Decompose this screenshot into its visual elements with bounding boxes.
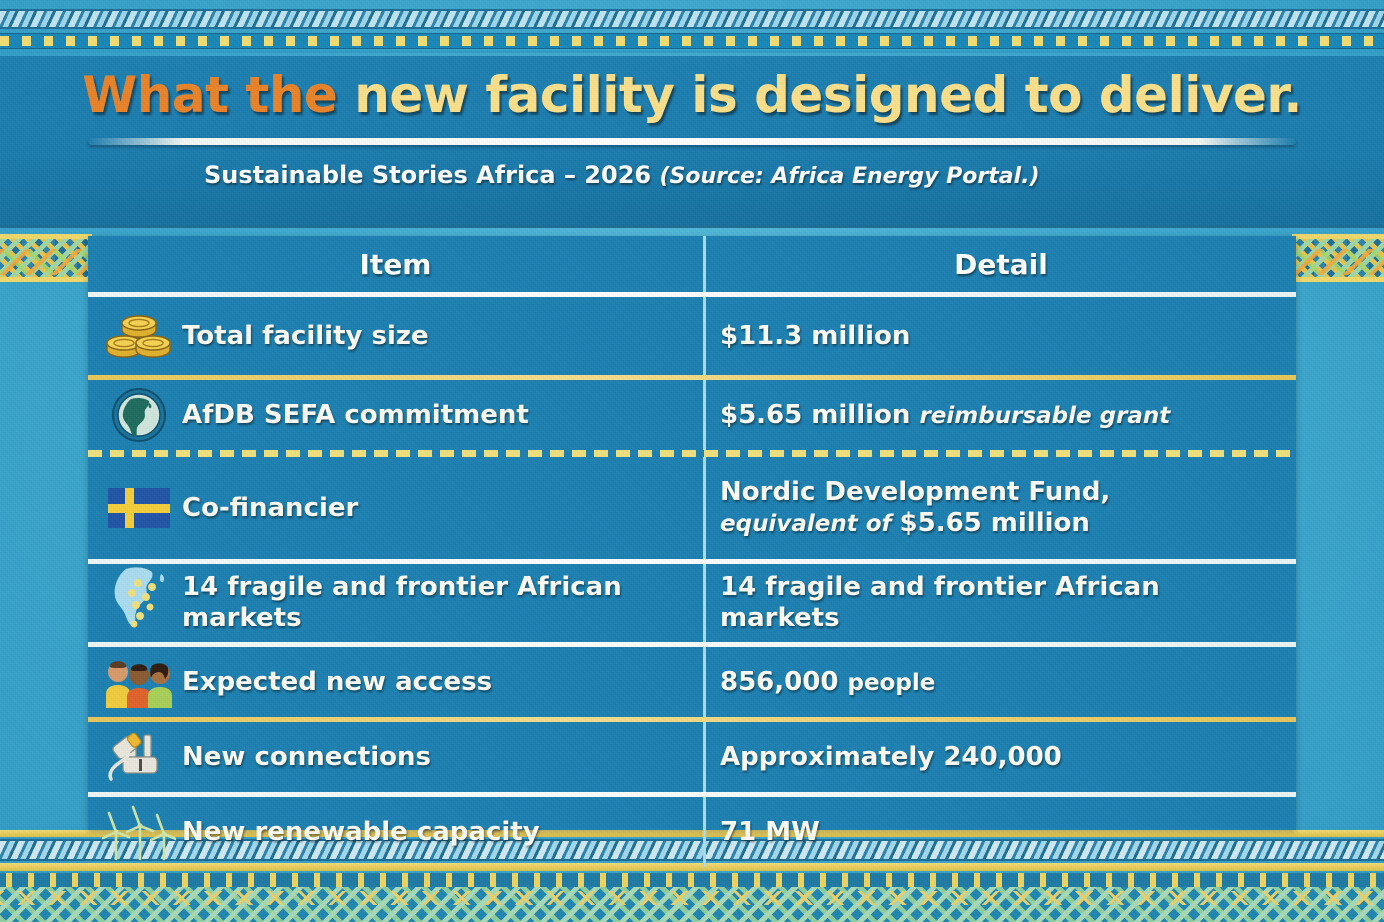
row-item-cell: 14 fragile and frontier African markets — [88, 564, 703, 642]
row-detail-line2-bold: $5.65 million — [900, 508, 1090, 538]
column-header-detail: Detail — [703, 236, 1296, 292]
table-row: New renewable capacity 71 MW — [88, 797, 1296, 867]
table-row: 14 fragile and frontier African markets … — [88, 564, 1296, 642]
top-decorative-border — [0, 0, 1384, 56]
table-header-row: Item Detail — [88, 236, 1296, 292]
power-plug-icon — [102, 722, 176, 792]
row-detail-value: Approximately 240,000 — [720, 742, 1062, 773]
row-detail-italic: reimbursable grant — [919, 403, 1170, 429]
infographic-page: What the new facility is designed to del… — [0, 0, 1384, 922]
row-detail-value: 71 MW — [720, 817, 820, 848]
table-row: AfDB SEFA commitment $5.65 million reimb… — [88, 380, 1296, 450]
table-row: Co-financier Nordic Development Fund, eq… — [88, 457, 1296, 559]
row-item-label: New connections — [182, 742, 431, 773]
subtitle-main: Sustainable Stories Africa – 2026 — [204, 161, 659, 189]
bottom-chevron-band — [0, 887, 1384, 922]
row-item-cell: New renewable capacity — [88, 797, 703, 867]
row-detail-cell: 71 MW — [703, 797, 1296, 867]
row-detail-bold: 856,000 — [720, 667, 847, 697]
afdb-globe-seal-icon — [102, 380, 176, 450]
row-detail-value: $5.65 million reimbursable grant — [720, 400, 1170, 431]
top-dot-band — [0, 33, 1384, 49]
gold-coins-icon — [102, 297, 176, 375]
right-chevron-ornament — [1292, 234, 1384, 282]
row-detail-cell: 856,000 people — [703, 647, 1296, 717]
row-detail-cell: $5.65 million reimbursable grant — [703, 380, 1296, 450]
row-item-cell: New connections — [88, 722, 703, 792]
page-title-main: new facility is designed to deliver. — [354, 66, 1302, 124]
row-detail-value: 856,000 people — [720, 667, 935, 698]
row-detail-value: Nordic Development Fund, equivalent of $… — [720, 477, 1110, 538]
page-title-accent: What the — [82, 66, 354, 124]
page-title: What the new facility is designed to del… — [0, 66, 1384, 124]
row-item-label: AfDB SEFA commitment — [182, 400, 529, 431]
row-detail-line1: Nordic Development Fund, — [720, 477, 1110, 507]
subtitle-source: (Source: Africa Energy Portal.) — [659, 164, 1039, 189]
row-item-label: Expected new access — [182, 667, 492, 698]
row-item-label: Total facility size — [182, 321, 429, 352]
page-subtitle: Sustainable Stories Africa – 2026 (Sourc… — [204, 161, 1040, 189]
header-band: What the new facility is designed to del… — [0, 56, 1384, 228]
row-item-cell: Total facility size — [88, 297, 703, 375]
divider-dashed — [88, 450, 1296, 457]
top-hatch-band — [0, 9, 1384, 29]
facility-details-table: Item Detail — [88, 236, 1296, 830]
top-accent-line — [0, 50, 1384, 53]
row-detail-cell: Approximately 240,000 — [703, 722, 1296, 792]
row-detail-value: 14 fragile and frontier African markets — [720, 572, 1282, 633]
row-item-cell: Expected new access — [88, 647, 703, 717]
sweden-flag-icon — [102, 457, 176, 559]
table-row: Total facility size $11.3 million — [88, 297, 1296, 375]
row-detail-value: $11.3 million — [720, 321, 910, 352]
africa-map-icon — [102, 564, 176, 642]
row-item-label: New renewable capacity — [182, 817, 540, 848]
wind-turbines-icon — [102, 797, 176, 867]
row-detail-plain: people — [847, 670, 935, 696]
row-detail-cell: 14 fragile and frontier African markets — [703, 564, 1296, 642]
row-item-label: 14 fragile and frontier African markets — [182, 572, 689, 633]
column-header-item: Item — [88, 236, 703, 292]
title-divider-rule — [88, 138, 1296, 145]
row-item-cell: AfDB SEFA commitment — [88, 380, 703, 450]
row-item-cell: Co-financier — [88, 457, 703, 559]
table-row: New connections Approximately 240,000 — [88, 722, 1296, 792]
row-detail-line2-italic: equivalent of — [720, 511, 900, 537]
row-detail-cell: Nordic Development Fund, equivalent of $… — [703, 457, 1296, 559]
people-group-icon — [102, 647, 176, 717]
left-chevron-ornament — [0, 234, 92, 282]
table-row: Expected new access 856,000 people — [88, 647, 1296, 717]
row-item-label: Co-financier — [182, 493, 358, 524]
row-detail-bold: $5.65 million — [720, 400, 919, 430]
row-detail-cell: $11.3 million — [703, 297, 1296, 375]
